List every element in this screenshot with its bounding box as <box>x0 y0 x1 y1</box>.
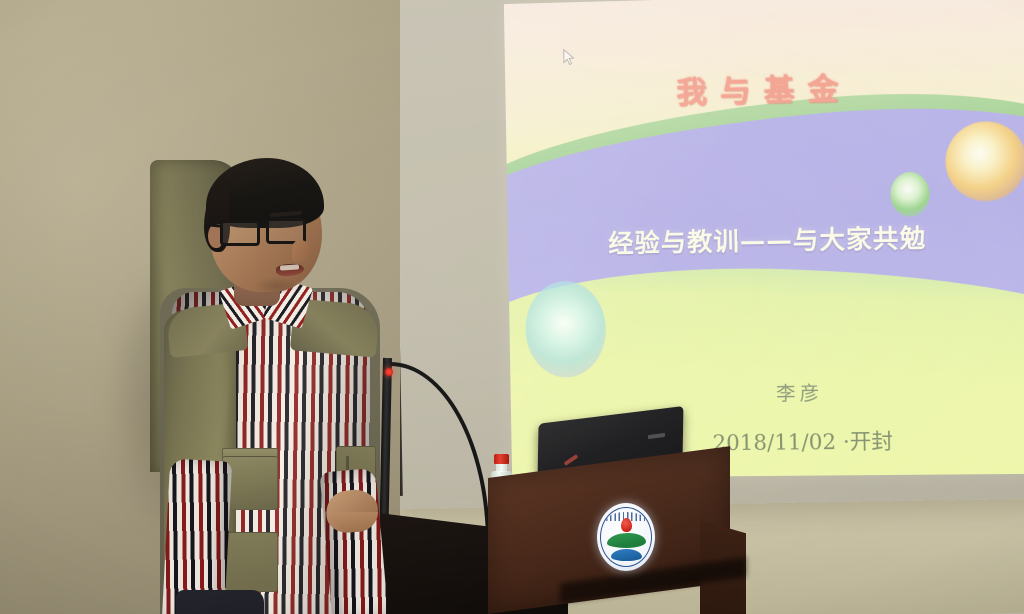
glasses-bridge <box>258 224 268 227</box>
glasses-left-lens <box>220 220 260 246</box>
sun-glow-orb-icon <box>945 121 1024 202</box>
speaker <box>150 160 400 614</box>
seal-flower-icon <box>621 518 632 532</box>
bottle-cap[interactable] <box>494 454 509 464</box>
bottle-neck <box>496 463 507 472</box>
institutional-seal-icon <box>597 503 655 571</box>
teal-glow-orb-icon <box>525 280 607 377</box>
slide-author: 李彦 <box>510 376 1024 409</box>
seal-ribbon-icon <box>607 533 646 548</box>
presentation-photo-scene: 我与基金 经验与教训——与大家共勉 李彦 2018/11/02 ·开封 <box>0 0 1024 614</box>
chin-shadow <box>246 278 308 298</box>
speaker-trousers <box>176 590 264 614</box>
projected-slide[interactable]: 我与基金 经验与教训——与大家共勉 李彦 2018/11/02 ·开封 <box>504 0 1024 478</box>
speaker-nose <box>292 240 310 262</box>
mouse-pointer-icon <box>563 48 575 66</box>
seal-wave-icon <box>611 549 642 561</box>
